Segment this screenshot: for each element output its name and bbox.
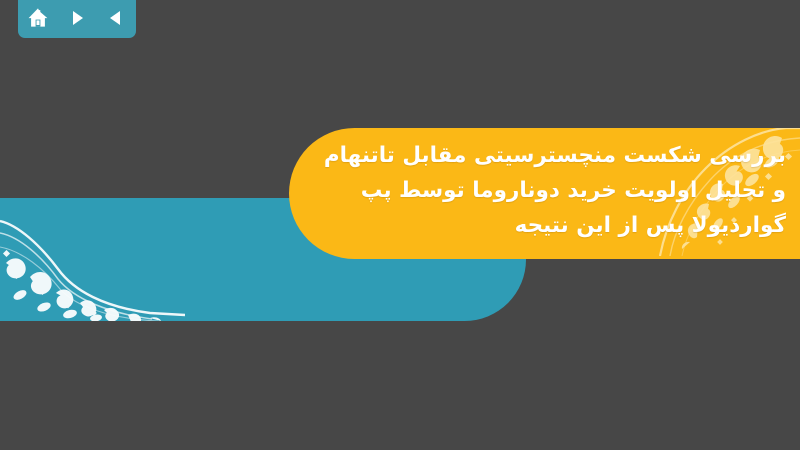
- headline-text: بررسی شکست منچسترسیتی مقابل تاتنهام و تح…: [306, 138, 786, 243]
- slide-canvas: بررسی شکست منچسترسیتی مقابل تاتنهام و تح…: [0, 0, 800, 450]
- home-icon: [27, 7, 49, 29]
- forward-button[interactable]: [64, 5, 90, 31]
- headline-line-3: گواردیولا پس از این نتیجه: [306, 208, 786, 243]
- triangle-right-icon: [67, 8, 87, 28]
- headline-banner: بررسی شکست منچسترسیتی مقابل تاتنهام و تح…: [289, 128, 800, 259]
- home-button[interactable]: [25, 5, 51, 31]
- back-button[interactable]: [103, 5, 129, 31]
- triangle-left-icon: [106, 8, 126, 28]
- navigation-bar: [18, 0, 136, 38]
- headline-line-2: و تحلیل اولویت خرید دوناروما توسط پپ: [306, 173, 786, 208]
- headline-line-1: بررسی شکست منچسترسیتی مقابل تاتنهام: [306, 138, 786, 173]
- arabesque-corner-ornament: [0, 203, 185, 321]
